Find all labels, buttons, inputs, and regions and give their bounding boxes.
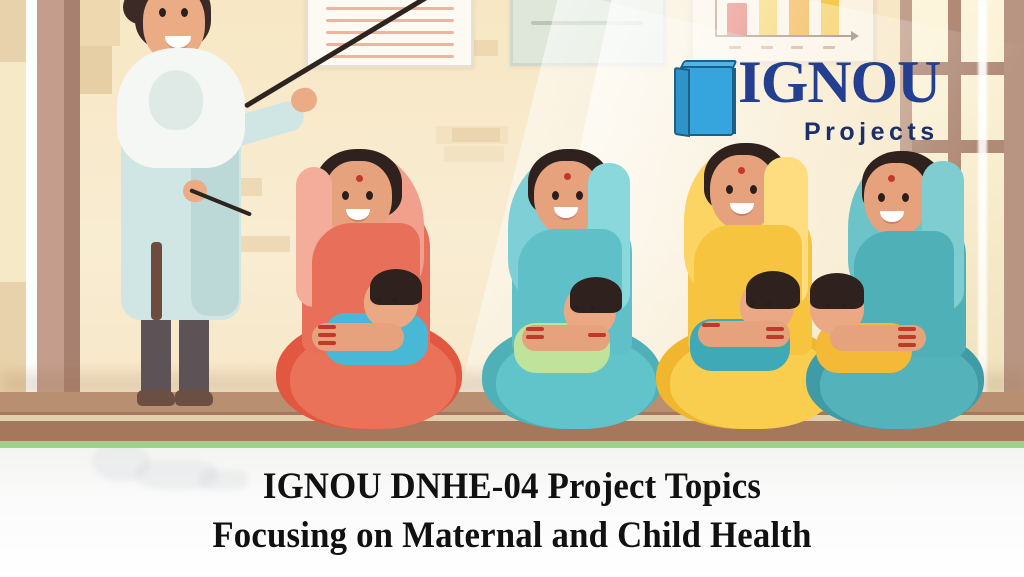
- logo-brand-text: IGNOU: [738, 48, 940, 117]
- baby-hair: [810, 273, 864, 309]
- poster-rule: [326, 55, 454, 58]
- baby-eye: [574, 305, 579, 311]
- mother-with-baby: [478, 127, 674, 427]
- title-line-2: Focusing on Maternal and Child Health: [31, 511, 994, 560]
- bindi: [738, 167, 745, 174]
- bangle: [898, 335, 916, 339]
- dupatta-fold: [149, 70, 203, 130]
- baby-eye: [766, 301, 771, 307]
- eye: [750, 185, 757, 194]
- bangle: [766, 327, 784, 331]
- kurta-slit: [151, 242, 162, 320]
- smile: [730, 203, 754, 216]
- baby-eye: [842, 303, 847, 309]
- chart-bar: [821, 0, 839, 35]
- bangle: [318, 333, 336, 337]
- mother-with-baby: [268, 127, 478, 427]
- bangle: [898, 327, 916, 331]
- smile: [880, 211, 904, 224]
- book-spine: [674, 67, 690, 137]
- bangle: [318, 325, 336, 329]
- eye: [726, 185, 733, 194]
- chart-y-axis: [715, 0, 717, 37]
- leg: [179, 314, 209, 396]
- bangle: [526, 335, 544, 339]
- baby-eye: [750, 301, 755, 307]
- poster-rule: [326, 7, 454, 10]
- bangle: [318, 341, 336, 345]
- title-line-1: IGNOU DNHE-04 Project Topics: [31, 462, 994, 511]
- eye: [552, 191, 559, 200]
- bangle: [588, 333, 606, 337]
- baby-eye: [376, 297, 381, 303]
- eye: [878, 193, 885, 202]
- title-panel: IGNOU DNHE-04 Project Topics Focusing on…: [0, 448, 1024, 577]
- bindi: [888, 175, 895, 182]
- poster-rule: [531, 21, 643, 25]
- bangle: [898, 343, 916, 347]
- bangle: [526, 327, 544, 331]
- eye: [342, 191, 349, 200]
- smile: [554, 207, 578, 220]
- logo-sub-text: Projects: [804, 118, 939, 147]
- baby-eye: [392, 297, 397, 303]
- bindi: [356, 175, 363, 182]
- eye: [159, 8, 166, 17]
- page-title: IGNOU DNHE-04 Project Topics Focusing on…: [0, 462, 1024, 560]
- smile: [346, 209, 370, 222]
- shoe: [137, 390, 175, 406]
- left-wall-middle: [0, 62, 26, 282]
- chart-bar: [789, 0, 809, 35]
- bangle: [766, 335, 784, 339]
- baby-eye: [826, 303, 831, 309]
- poster-rule: [326, 31, 454, 34]
- eye: [576, 191, 583, 200]
- bangle: [702, 323, 720, 327]
- left-wall-upper: [0, 0, 26, 62]
- eye: [902, 193, 909, 202]
- face: [864, 163, 928, 237]
- chart-bar: [759, 0, 777, 35]
- chart-bar: [727, 3, 747, 35]
- axis-arrow-icon: [851, 31, 859, 41]
- ignou-projects-logo[interactable]: IGNOU Projects: [660, 52, 950, 160]
- banner-image: IGNOU Projects IGNOU DNHE-04 Project Top…: [0, 0, 1024, 577]
- baby-eye: [590, 305, 595, 311]
- eye: [366, 191, 373, 200]
- shoe: [175, 390, 213, 406]
- health-educator-figure: [95, 0, 285, 422]
- green-divider: [0, 441, 1024, 448]
- bindi: [564, 173, 571, 180]
- chart-x-axis: [715, 35, 855, 37]
- book-icon: [674, 58, 734, 134]
- leg: [141, 314, 171, 396]
- mother-with-baby: [806, 127, 996, 427]
- eye: [181, 8, 188, 17]
- community-info-poster: [510, 0, 666, 66]
